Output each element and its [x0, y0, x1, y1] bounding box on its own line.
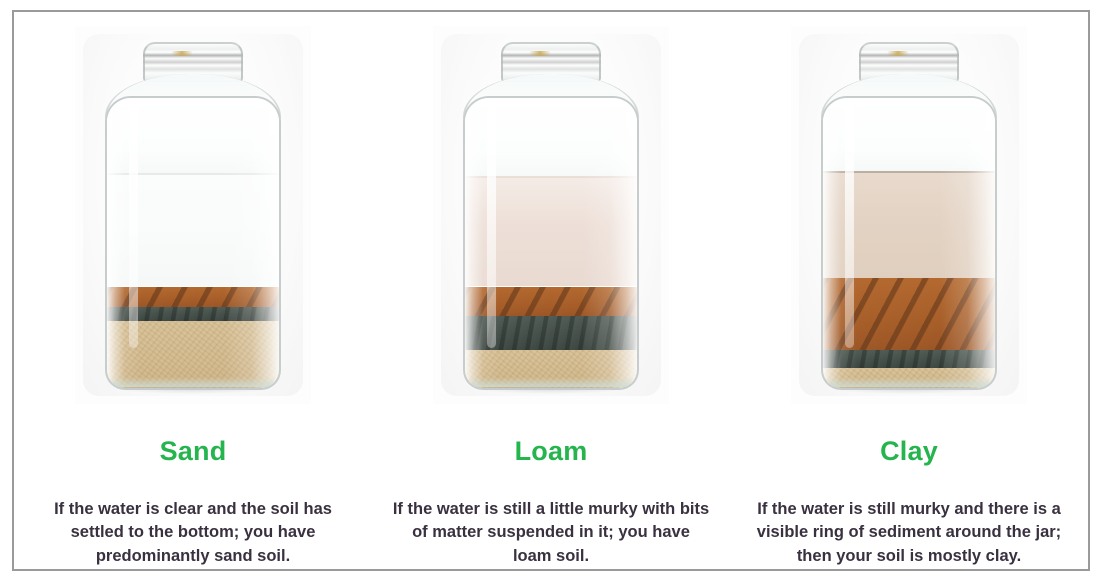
jar-rim-glint-icon — [529, 51, 551, 56]
jar-photo-loam — [433, 26, 669, 404]
jar-clay — [809, 42, 1009, 390]
jar-clay-layer — [823, 278, 995, 351]
soil-column-clay: Clay If the water is still murky and the… — [730, 12, 1088, 569]
jar-photo-sand — [75, 26, 311, 404]
soil-title-loam: Loam — [515, 438, 588, 465]
jar-water-layer — [465, 176, 637, 286]
jar-body — [821, 96, 997, 390]
jar-water-line — [823, 171, 995, 173]
soil-type-columns: Sand If the water is clear and the soil … — [14, 12, 1088, 569]
soil-title-sand: Sand — [160, 438, 227, 465]
jar-air-space — [823, 98, 995, 171]
jar-sand-layer — [465, 350, 637, 388]
soil-title-clay: Clay — [880, 438, 938, 465]
jar-rim-glint-icon — [171, 51, 193, 56]
jar-drop-shadow — [477, 384, 625, 394]
jar-body — [105, 96, 281, 390]
soil-description-sand: If the water is clear and the soil has s… — [34, 498, 352, 568]
jar-air-space — [465, 98, 637, 176]
jar-silt-layer — [465, 316, 637, 351]
jar-rim-glint-icon — [887, 51, 909, 56]
soil-description-clay: If the water is still murky and there is… — [750, 498, 1068, 568]
jar-drop-shadow — [835, 384, 983, 394]
soil-description-loam: If the water is still a little murky wit… — [392, 498, 710, 568]
jar-contents — [465, 98, 637, 388]
jar-water-line — [107, 173, 279, 175]
jar-loam — [451, 42, 651, 390]
jar-contents — [823, 98, 995, 388]
jar-body — [463, 96, 639, 390]
soil-column-loam: Loam If the water is still a little murk… — [372, 12, 730, 569]
infographic-root: Sand If the water is clear and the soil … — [0, 0, 1108, 588]
jar-drop-shadow — [119, 384, 267, 394]
jar-clay-layer — [465, 287, 637, 316]
jar-photo-clay — [791, 26, 1027, 404]
jar-water-layer — [107, 173, 279, 286]
jar-silt-layer — [107, 307, 279, 322]
jar-clay-layer — [107, 287, 279, 307]
jar-air-space — [107, 98, 279, 173]
soil-column-sand: Sand If the water is clear and the soil … — [14, 12, 372, 569]
jar-water-line — [465, 176, 637, 178]
jar-contents — [107, 98, 279, 388]
jar-sand — [93, 42, 293, 390]
jar-water-layer — [823, 171, 995, 278]
jar-silt-layer — [823, 350, 995, 367]
jar-sand-layer — [107, 321, 279, 388]
